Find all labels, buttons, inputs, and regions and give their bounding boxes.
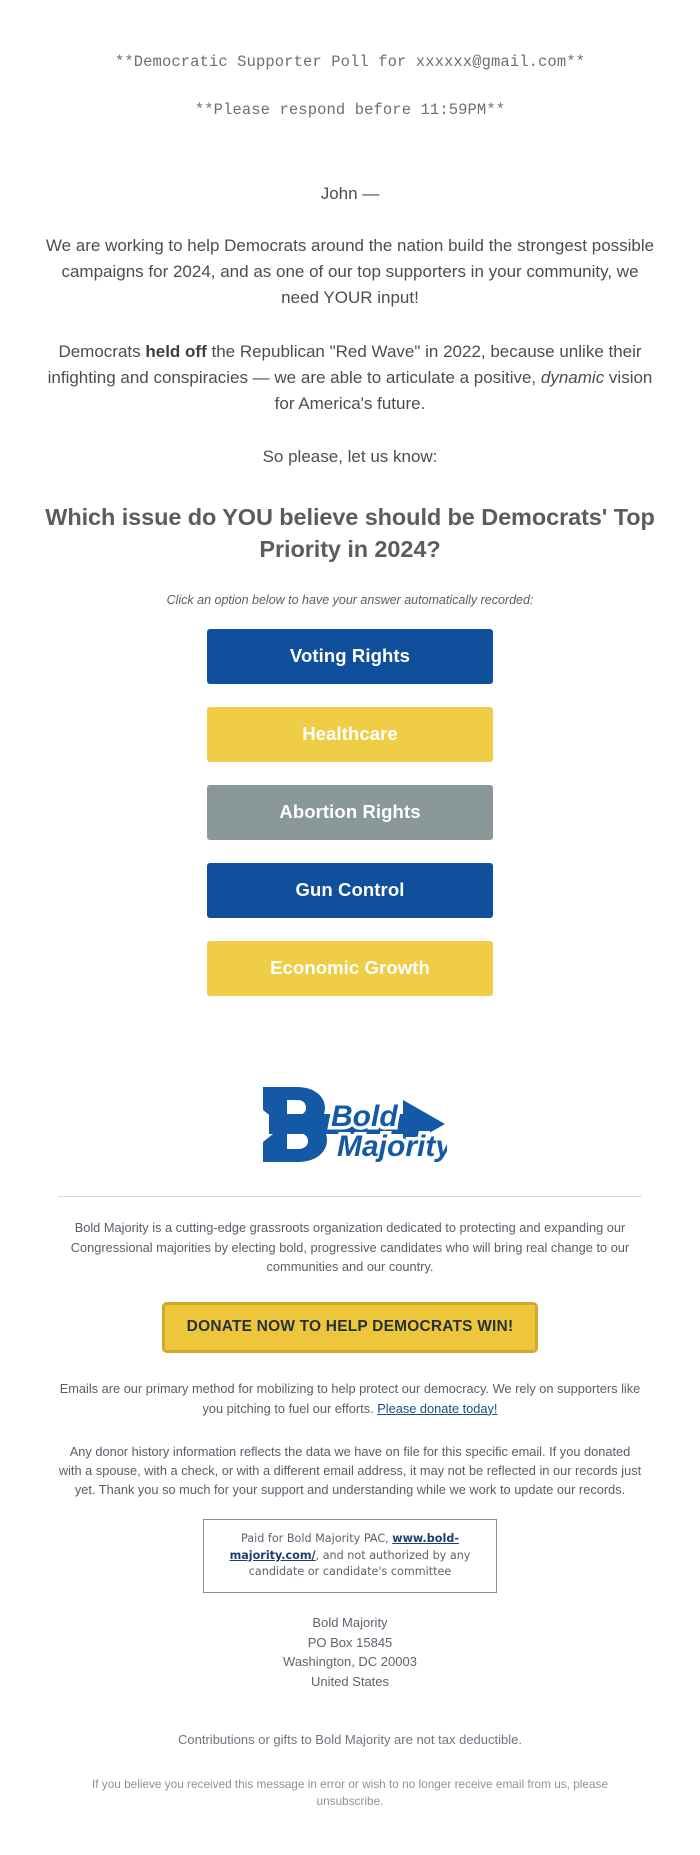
- footer-divider: [58, 1196, 642, 1197]
- pac-disclosure-box: Paid for Bold Majority PAC, www.bold-maj…: [203, 1519, 497, 1593]
- mailing-address: Bold Majority PO Box 15845 Washington, D…: [58, 1613, 642, 1691]
- red-wave-text-1: Democrats: [58, 342, 145, 361]
- logo-word-bold: Bold: [331, 1100, 398, 1133]
- address-org: Bold Majority: [58, 1613, 642, 1633]
- donate-button-wrapper: DONATE NOW TO HELP DEMOCRATS WIN!: [58, 1302, 642, 1353]
- email-body: **Democratic Supporter Poll for xxxxxx@g…: [0, 0, 700, 1855]
- unsubscribe-notice: If you believe you received this message…: [58, 1776, 642, 1811]
- let-us-know-paragraph: So please, let us know:: [42, 444, 658, 470]
- greeting: John —: [42, 182, 658, 207]
- bold-majority-logo-icon: Bold Majority: [253, 1074, 447, 1166]
- address-country: United States: [58, 1672, 642, 1692]
- poll-options-list: Voting Rights Healthcare Abortion Rights…: [207, 629, 493, 996]
- red-wave-paragraph: Democrats held off the Republican "Red W…: [42, 339, 658, 418]
- mobilizing-paragraph: Emails are our primary method for mobili…: [58, 1379, 642, 1417]
- held-off-emphasis: held off: [145, 342, 206, 361]
- mission-statement: Bold Majority is a cutting-edge grassroo…: [58, 1218, 642, 1276]
- donor-history-paragraph: Any donor history information reflects t…: [58, 1442, 642, 1500]
- email-content: John — We are working to help Democrats …: [0, 182, 700, 996]
- email-footer: Bold Majority is a cutting-edge grassroo…: [0, 1218, 700, 1811]
- tax-deductible-notice: Contributions or gifts to Bold Majority …: [58, 1730, 642, 1750]
- donate-button[interactable]: DONATE NOW TO HELP DEMOCRATS WIN!: [162, 1302, 539, 1353]
- address-city: Washington, DC 20003: [58, 1652, 642, 1672]
- preheader-line-2: **Please respond before 11:59PM**: [30, 98, 670, 122]
- donate-today-link[interactable]: Please donate today!: [377, 1401, 497, 1416]
- dynamic-emphasis: dynamic: [541, 368, 604, 387]
- poll-question: Which issue do YOU believe should be Dem…: [42, 502, 658, 565]
- mobilizing-text: Emails are our primary method for mobili…: [60, 1381, 641, 1415]
- disclosure-text-1: Paid for Bold Majority PAC,: [241, 1532, 392, 1545]
- preheader: **Democratic Supporter Poll for xxxxxx@g…: [0, 0, 700, 146]
- poll-option-abortion-rights[interactable]: Abortion Rights: [207, 785, 493, 840]
- address-street: PO Box 15845: [58, 1633, 642, 1653]
- intro-paragraph: We are working to help Democrats around …: [42, 233, 658, 312]
- preheader-line-1: **Democratic Supporter Poll for xxxxxx@g…: [30, 50, 670, 74]
- brand-logo[interactable]: Bold Majority: [0, 996, 700, 1171]
- logo-word-majority: Majority: [337, 1130, 447, 1163]
- poll-instructions: Click an option below to have your answe…: [42, 593, 658, 607]
- poll-option-gun-control[interactable]: Gun Control: [207, 863, 493, 918]
- poll-option-healthcare[interactable]: Healthcare: [207, 707, 493, 762]
- poll-option-voting-rights[interactable]: Voting Rights: [207, 629, 493, 684]
- poll-option-economic-growth[interactable]: Economic Growth: [207, 941, 493, 996]
